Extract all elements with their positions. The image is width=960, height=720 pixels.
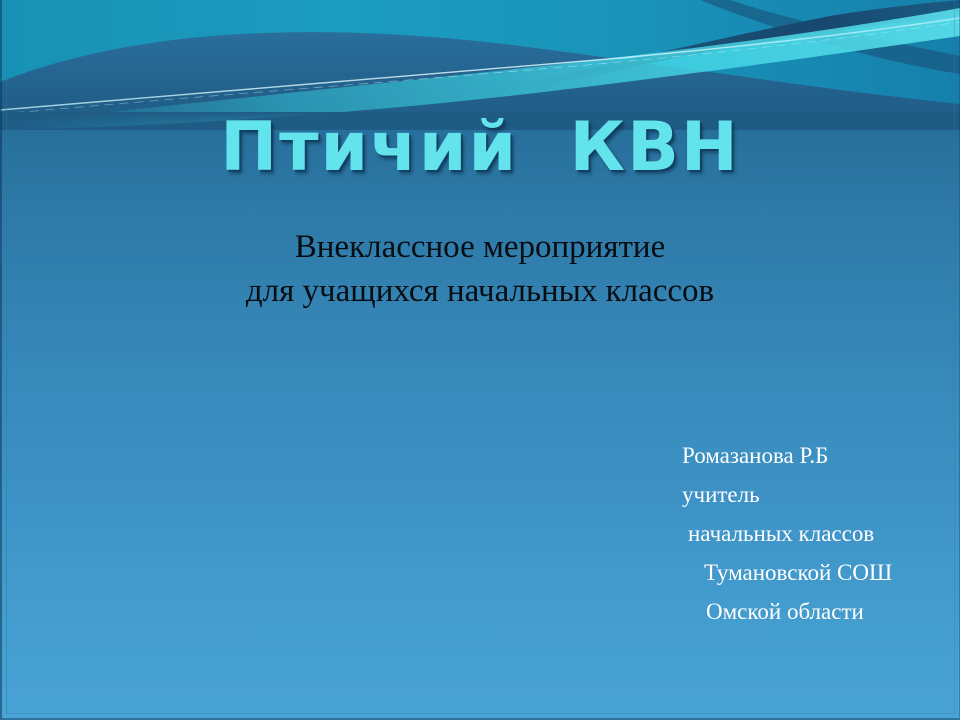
author-block: Ромазанова Р.Б учитель начальных классов…	[660, 444, 960, 639]
author-school: Тумановской СОШ	[660, 561, 960, 584]
author-name: Ромазанова Р.Б	[660, 444, 960, 467]
slide-subtitle: Внеклассное мероприятие для учащихся нач…	[0, 226, 960, 314]
author-role: учитель	[660, 483, 960, 506]
subtitle-line-1: Внеклассное мероприятие	[0, 226, 960, 270]
presentation-slide: Птичий КВН Внеклассное мероприятие для у…	[0, 0, 960, 720]
author-role-detail: начальных классов	[660, 522, 960, 545]
subtitle-line-2: для учащихся начальных классов	[0, 270, 960, 314]
slide-title: Птичий КВН	[0, 112, 960, 183]
author-region: Омской области	[660, 600, 960, 623]
